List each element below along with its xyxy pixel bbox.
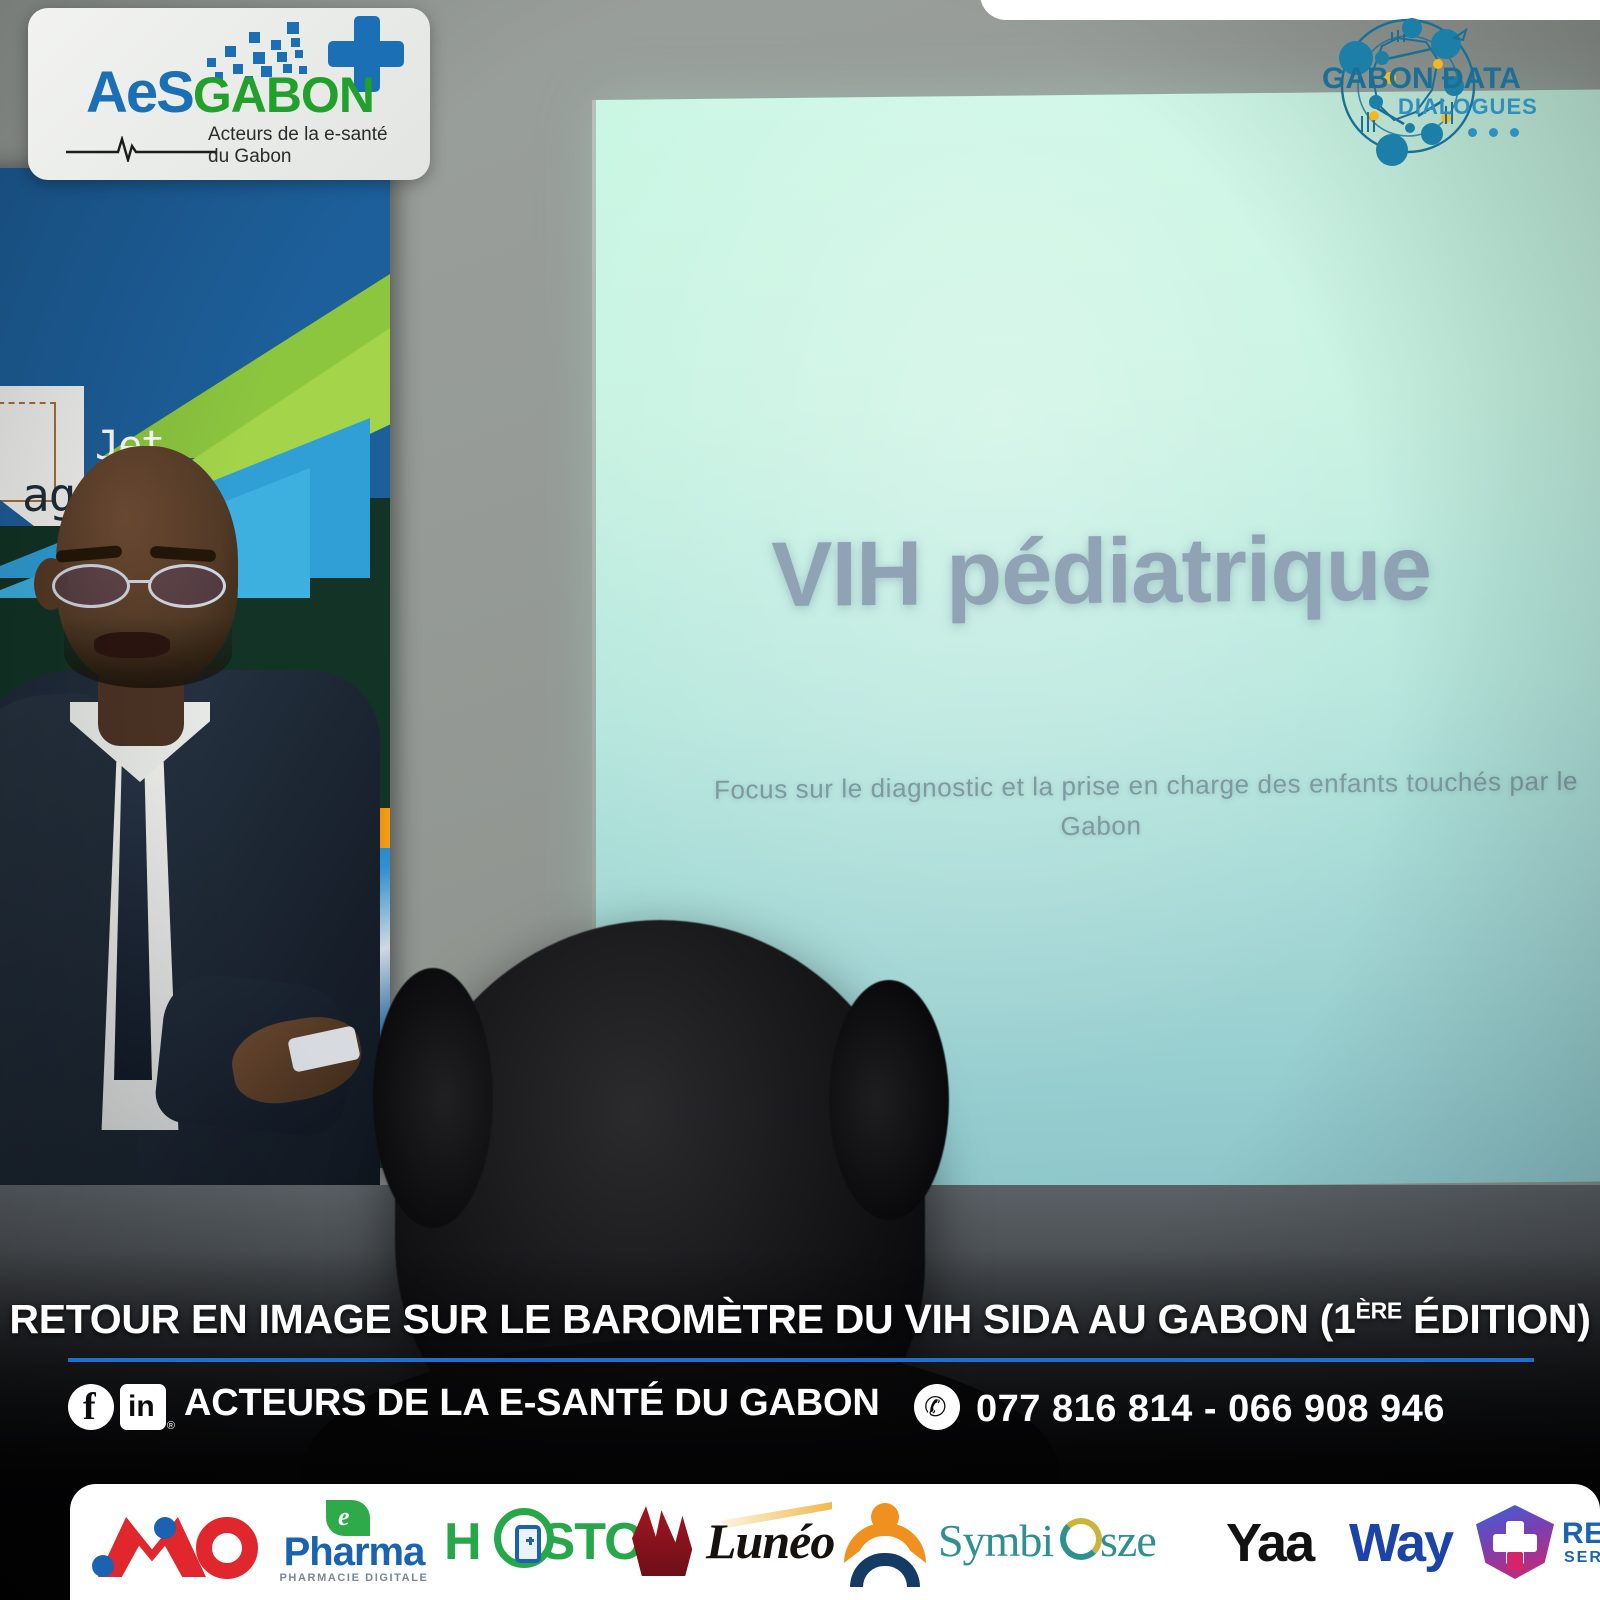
epharma-sub: PHARMACIE DIGITALE xyxy=(274,1572,434,1584)
partner-logo-epharma[interactable]: e Pharma PHARMACIE DIGITALE xyxy=(274,1494,434,1590)
epharma-logo-icon: e Pharma PHARMACIE DIGITALE xyxy=(274,1502,434,1582)
symbiosze-logo-icon: Symbi sze xyxy=(938,1510,1216,1574)
social-card: VIH pédiatrique Focus sur le diagnostic … xyxy=(0,0,1600,1600)
slide-subtitle-line1: Focus sur le diagnostic et la prise en c… xyxy=(714,749,1600,815)
partner-logo-luneo[interactable]: Lunéo xyxy=(632,1494,832,1590)
aes-tagline: Acteurs de la e-santé du Gabon xyxy=(208,124,388,168)
caption-headline-ordinal: ÈRE xyxy=(1356,1297,1402,1323)
glasses-bridge xyxy=(128,580,152,583)
social-handle: ACTEURS DE LA E-SANTÉ DU GABON xyxy=(184,1382,880,1425)
social-icons: f in® xyxy=(68,1380,168,1432)
speaker-mouth xyxy=(94,632,170,658)
hosto-logo-icon: HSTO xyxy=(444,1506,622,1578)
heartbeat-line-icon xyxy=(66,136,216,162)
caption-headline-main: RETOUR EN IMAGE SUR LE BAROMÈTRE DU VIH … xyxy=(9,1296,1355,1342)
symbiose-people-icon xyxy=(842,1503,928,1581)
luneo-name: Lunéo xyxy=(706,1512,834,1570)
glasses-lens-left xyxy=(52,564,130,608)
partner-logo-symbiosze[interactable]: Symbi sze xyxy=(938,1494,1216,1590)
epharma-name: Pharma xyxy=(274,1530,434,1575)
partner-logo-avo[interactable] xyxy=(92,1494,264,1590)
facebook-icon[interactable]: f xyxy=(68,1384,114,1430)
symbiosze-ring-icon xyxy=(1060,1518,1102,1560)
relief-logo-icon: RELIEF SERVICES xyxy=(1476,1503,1600,1581)
partner-logo-relief-services[interactable]: RELIEF SERVICES xyxy=(1476,1494,1600,1590)
caption-block: RETOUR EN IMAGE SUR LE BAROMÈTRE DU VIH … xyxy=(0,1296,1600,1496)
partner-logo-bar: e Pharma PHARMACIE DIGITALE HSTO Lunéo xyxy=(70,1484,1600,1600)
linkedin-icon[interactable]: in® xyxy=(120,1384,166,1430)
avo-logo-icon xyxy=(92,1505,264,1579)
yaaway-part-b: Way xyxy=(1349,1512,1452,1574)
relief-sub: SERVICES xyxy=(1564,1549,1600,1567)
hosto-h: H xyxy=(444,1513,481,1571)
gdd-dots-icon xyxy=(1468,124,1531,142)
luneo-logo-icon: Lunéo xyxy=(632,1504,832,1580)
phone-numbers: 077 816 814 - 066 908 946 xyxy=(976,1388,1445,1431)
gdd-line1: GABON ÐATA xyxy=(1322,62,1521,96)
symbiosze-part-b: sze xyxy=(1100,1514,1156,1567)
aes-tagline-line2: du Gabon xyxy=(208,146,388,168)
aes-gabon-logo: AeSGABON Acteurs de la e-santé du Gabon xyxy=(28,8,430,180)
speaker-glasses xyxy=(52,564,242,610)
partner-logo-hosto[interactable]: HSTO xyxy=(444,1494,622,1590)
caption-headline-tail: ÉDITION) xyxy=(1402,1296,1591,1342)
caption-headline: RETOUR EN IMAGE SUR LE BAROMÈTRE DU VIH … xyxy=(9,1296,1590,1343)
gabon-data-dialogues-logo: GABON ÐATA DIALOGUES xyxy=(1286,8,1586,168)
gdd-line2: DIALOGUES xyxy=(1398,94,1538,120)
slide-title: VIH pédiatrique xyxy=(596,514,1600,630)
yaaway-logo-icon: Yaa Way xyxy=(1226,1512,1466,1572)
glasses-lens-right xyxy=(148,564,226,608)
partner-logo-symbiose-mark[interactable] xyxy=(842,1494,928,1590)
partner-logo-yaaway[interactable]: Yaa Way xyxy=(1226,1494,1466,1590)
aes-wordmark: AeSGABON xyxy=(86,64,374,122)
phone-icon: ✆ xyxy=(914,1384,960,1430)
hosto-sto: STO xyxy=(541,1513,644,1571)
aes-wordmark-blue: AeS xyxy=(86,60,193,125)
symbiosze-part-a: Symbi xyxy=(938,1514,1053,1567)
yaaway-part-a: Yaa xyxy=(1226,1512,1313,1574)
aes-tagline-line1: Acteurs de la e-santé xyxy=(208,124,388,146)
caption-contact-row: f in® ACTEURS DE LA E-SANTÉ DU GABON ✆ 0… xyxy=(68,1374,1538,1440)
relief-part-a: REL xyxy=(1562,1517,1600,1550)
aes-wordmark-green: GABON xyxy=(193,67,374,123)
caption-divider xyxy=(68,1358,1534,1362)
